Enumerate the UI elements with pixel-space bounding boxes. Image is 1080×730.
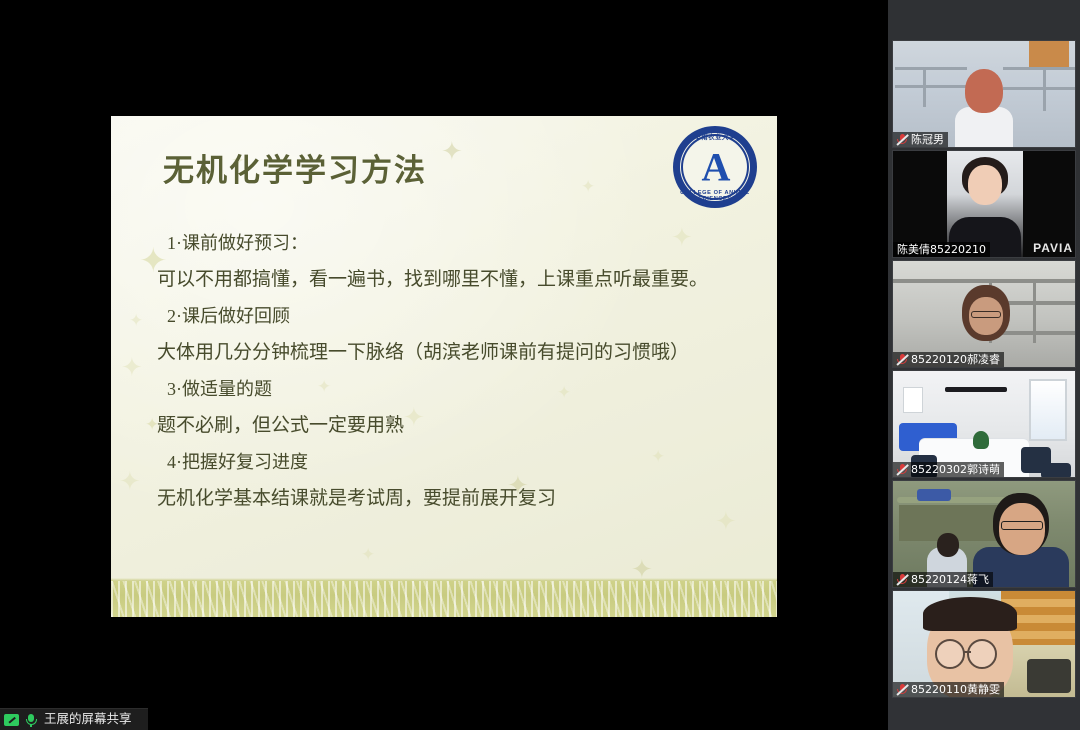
participant-tile[interactable]: 85220124蒋飞 <box>892 480 1076 588</box>
participant-name: 陈冠男 <box>911 132 944 147</box>
slide-text-line: 题不必刷，但公式一定要用熟 <box>151 416 733 435</box>
shared-screen-area[interactable]: ✦✦✦✦✦✦✦✦✦✦✦✦✦✦✦✦✦✦ 华南农业大学 A COLLEGE OF A… <box>0 0 888 730</box>
participant-tile[interactable]: 陈冠男 <box>892 40 1076 148</box>
slide-title: 无机化学学习方法 <box>163 145 427 190</box>
logo-letter: A <box>702 144 729 191</box>
slide-text-line: 无机化学基本结课就是考试周，要提前展开复习 <box>151 489 733 508</box>
participant-name-badge: 陈冠男 <box>893 132 948 147</box>
slide-body-text: 1·课前做好预习：可以不用都搞懂，看一遍书，找到哪里不懂，上课重点听最重要。2·… <box>151 234 733 526</box>
participant-tile[interactable]: 85220302郭诗萌 <box>892 370 1076 478</box>
microphone-icon <box>24 713 40 727</box>
slide-text-line: 3·做适量的题 <box>151 380 733 398</box>
leaf-decoration: ✦ <box>581 178 595 195</box>
mic-muted-icon <box>896 574 908 586</box>
participant-name-badge: 85220124蒋飞 <box>893 572 993 587</box>
mic-muted-icon <box>896 134 908 146</box>
screen-share-owner-label: 王展的屏幕共享 <box>44 713 132 726</box>
participant-name-badge: 85220110黄静雯 <box>893 682 1004 697</box>
mic-muted-icon <box>896 464 908 476</box>
slide-text-line: 1·课前做好预习： <box>151 234 733 252</box>
logo-top-text: 华南农业大学 <box>667 131 763 141</box>
logo-bottom-text: COLLEGE OF ANIMAL SCIENCES <box>667 190 763 202</box>
participant-video-strip[interactable]: 陈冠男PAVIA陈美倩8522021085220120郝凌睿85220302郭诗… <box>888 0 1080 730</box>
leaf-decoration: ✦ <box>129 312 143 329</box>
letterbox-top <box>0 0 888 116</box>
presentation-slide: ✦✦✦✦✦✦✦✦✦✦✦✦✦✦✦✦✦✦ 华南农业大学 A COLLEGE OF A… <box>111 116 777 617</box>
screen-share-status-bar[interactable]: 王展的屏幕共享 <box>0 708 148 730</box>
participant-tile[interactable]: PAVIA陈美倩85220210 <box>892 150 1076 258</box>
leaf-decoration: ✦ <box>441 138 463 164</box>
participant-name: 85220110黄静雯 <box>911 682 1000 697</box>
leaf-decoration: ✦ <box>361 546 375 563</box>
meeting-window: ✦✦✦✦✦✦✦✦✦✦✦✦✦✦✦✦✦✦ 华南农业大学 A COLLEGE OF A… <box>0 0 1080 730</box>
participant-name: 85220302郭诗萌 <box>911 462 1000 477</box>
participant-name: 85220120郝凌睿 <box>911 352 1000 367</box>
mic-muted-icon <box>896 684 908 696</box>
slide-text-line: 2·课后做好回顾 <box>151 307 733 325</box>
slide-text-line: 大体用几分分钟梳理一下脉络（胡滨老师课前有提问的习惯哦） <box>151 343 733 362</box>
university-logo: 华南农业大学 A COLLEGE OF ANIMAL SCIENCES <box>667 120 763 214</box>
slide-text-line: 4·把握好复习进度 <box>151 453 733 471</box>
participant-name-badge: 陈美倩85220210 <box>893 242 990 257</box>
participant-tile[interactable]: 85220110黄静雯 <box>892 590 1076 698</box>
slide-footer-band <box>111 581 777 617</box>
slide-text-line: 可以不用都搞懂，看一遍书，找到哪里不懂，上课重点听最重要。 <box>151 270 733 289</box>
leaf-decoration: ✦ <box>121 354 143 380</box>
leaf-decoration: ✦ <box>119 468 141 494</box>
participant-name: 陈美倩85220210 <box>897 242 986 257</box>
screen-share-icon <box>4 713 20 727</box>
participant-name: 85220124蒋飞 <box>911 572 989 587</box>
mic-muted-icon <box>896 354 908 366</box>
participant-name-badge: 85220302郭诗萌 <box>893 462 1004 477</box>
participant-tile[interactable]: 85220120郝凌睿 <box>892 260 1076 368</box>
participant-name-badge: 85220120郝凌睿 <box>893 352 1004 367</box>
